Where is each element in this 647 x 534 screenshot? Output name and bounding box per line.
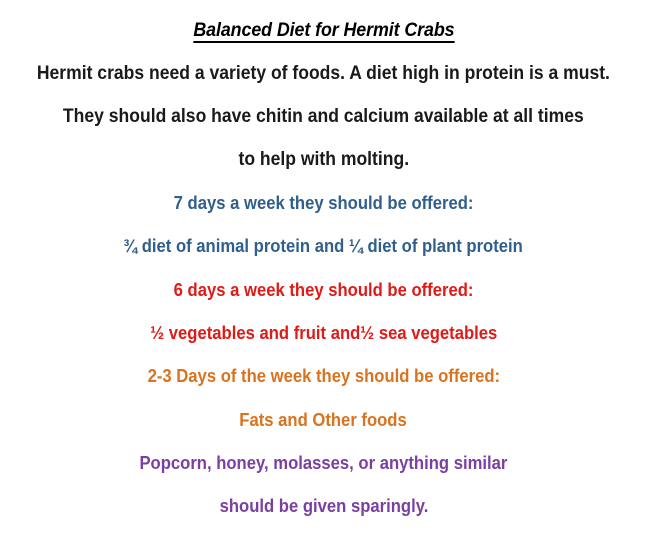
text-line-2: They should also have chitin and calcium…	[0, 107, 647, 127]
text-line-7-text: ½ vegetables and fruit and½ sea vegetabl…	[150, 324, 497, 343]
text-line-2-text: They should also have chitin and calcium…	[63, 107, 584, 127]
text-line-8-text: 2-3 Days of the week they should be offe…	[147, 367, 500, 386]
text-line-1-text: Hermit crabs need a variety of foods. A …	[37, 64, 610, 84]
text-line-11-purple-detail: should be given sparingly.	[0, 497, 647, 516]
text-line-1: Hermit crabs need a variety of foods. A …	[0, 64, 647, 84]
text-line-5-blue-detail: ¾ diet of animal protein and ¼ diet of p…	[0, 237, 647, 256]
text-line-3-text: to help with molting.	[238, 150, 409, 170]
text-line-10-purple-detail: Popcorn, honey, molasses, or anything si…	[0, 454, 647, 473]
text-line-4-blue-heading: 7 days a week they should be offered:	[0, 194, 647, 213]
text-line-11-text: should be given sparingly.	[219, 497, 428, 516]
text-line-10-text: Popcorn, honey, molasses, or anything si…	[140, 454, 508, 473]
text-line-9-orange-detail: Fats and Other foods	[0, 411, 647, 430]
page-title-text: Balanced Diet for Hermit Crabs	[193, 21, 454, 43]
text-line-5-text: ¾ diet of animal protein and ¼ diet of p…	[124, 237, 524, 256]
text-line-9-text: Fats and Other foods	[240, 411, 407, 430]
page-title: Balanced Diet for Hermit Crabs	[0, 21, 647, 43]
text-line-7-red-detail: ½ vegetables and fruit and½ sea vegetabl…	[0, 324, 647, 343]
text-line-3: to help with molting.	[0, 150, 647, 170]
text-line-6-red-heading: 6 days a week they should be offered:	[0, 281, 647, 300]
text-line-6-text: 6 days a week they should be offered:	[174, 281, 474, 300]
text-line-8-orange-heading: 2-3 Days of the week they should be offe…	[0, 367, 647, 386]
document-page: Balanced Diet for Hermit Crabs Hermit cr…	[0, 0, 647, 534]
text-line-4-text: 7 days a week they should be offered:	[174, 194, 474, 213]
